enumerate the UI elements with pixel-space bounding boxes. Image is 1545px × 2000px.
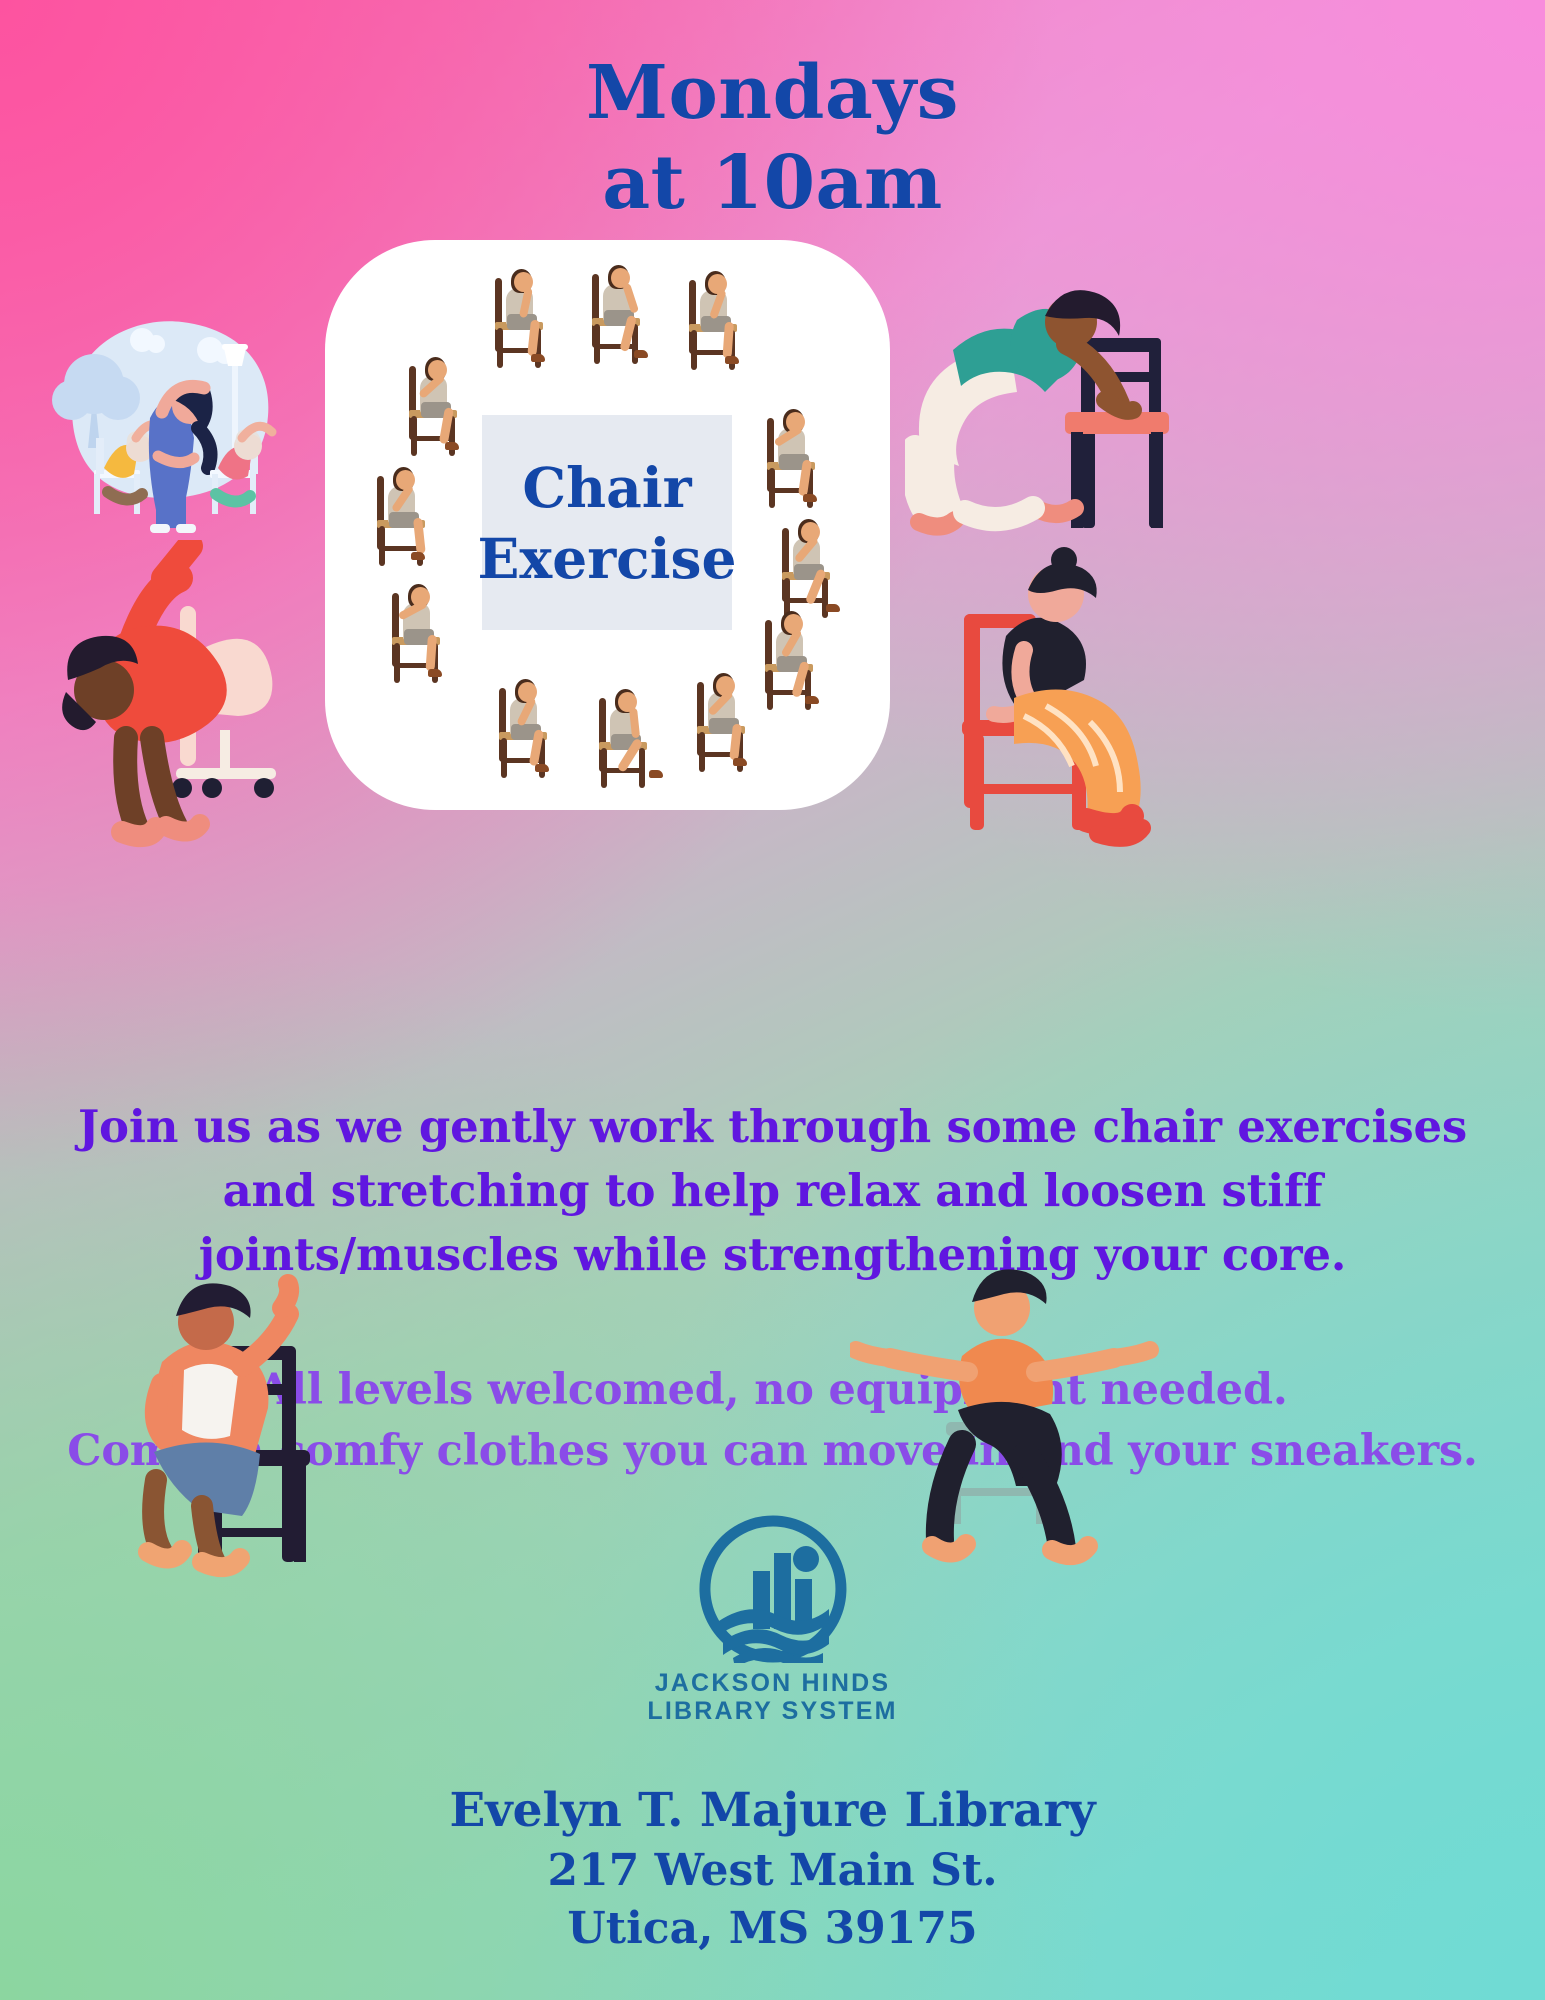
address-line-3: Utica, MS 39175 [0, 1900, 1545, 1958]
woman-stretching-over-chair-illustration [905, 280, 1170, 550]
chair-figure [483, 260, 579, 372]
library-address: Evelyn T. Majure Library 217 West Main S… [0, 1780, 1545, 1958]
flyer-poster: Mondays at 10am [0, 0, 1545, 2000]
library-logo-name: JACKSON HINDS LIBRARY SYSTEM [647, 1669, 897, 1725]
chair-exercise-center-card: Chair Exercise [325, 240, 890, 810]
chair-figure [580, 256, 676, 368]
man-seated-arm-raise-illustration [90, 1250, 360, 1580]
headline-line-2: at 10am [0, 138, 1545, 228]
chair-exercise-label: Chair Exercise [482, 415, 732, 630]
logo-name-line-1: JACKSON HINDS [647, 1669, 897, 1697]
address-line-1: Evelyn T. Majure Library [0, 1780, 1545, 1842]
woman-seated-on-red-chair-illustration [940, 520, 1190, 850]
chair-figure [380, 575, 476, 687]
seniors-stretching-with-instructor-illustration [32, 288, 280, 536]
woman-bending-over-office-chair-illustration [60, 540, 290, 860]
description-line-1: Join us as we gently work through some c… [0, 1095, 1545, 1159]
woman-seated-arms-extended-illustration [850, 1250, 1160, 1570]
chair-figure [365, 458, 461, 570]
chair-figure [685, 664, 781, 776]
address-line-2: 217 West Main St. [0, 1842, 1545, 1900]
logo-name-line-2: LIBRARY SYSTEM [647, 1697, 897, 1725]
chair-figure [397, 348, 493, 460]
chair-figure [587, 680, 683, 792]
description-line-2: and stretching to help relax and loosen … [0, 1159, 1545, 1223]
center-label-line-1: Chair [522, 460, 691, 515]
chair-figure [487, 670, 583, 782]
chair-figure [677, 262, 773, 374]
jackson-hinds-library-logo-icon [699, 1515, 847, 1663]
chair-figure [755, 400, 851, 512]
page-title: Mondays at 10am [0, 48, 1545, 229]
center-label-line-2: Exercise [477, 531, 736, 586]
headline-line-1: Mondays [586, 50, 959, 136]
